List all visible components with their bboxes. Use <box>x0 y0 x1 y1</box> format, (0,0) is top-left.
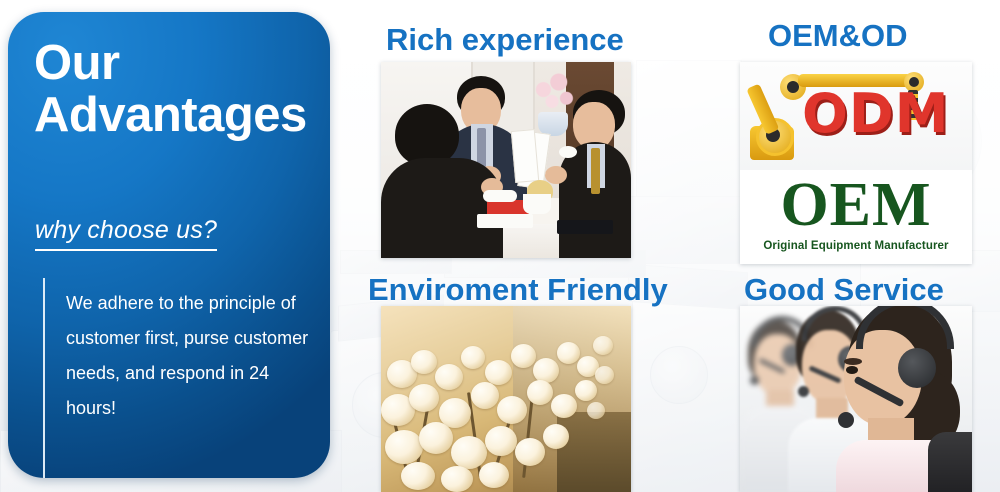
oem-caption: Original Equipment Manufacturer <box>740 240 972 252</box>
cotton-field-photo <box>381 306 631 492</box>
advantages-panel: Our Advantages why choose us? We adhere … <box>8 12 330 478</box>
heading-oem-od: OEM&OD <box>768 18 908 54</box>
oem-text: OEM <box>740 172 972 238</box>
page-title-line1: Our <box>34 36 120 90</box>
panel-vertical-rule <box>43 278 45 478</box>
business-meeting-photo <box>381 62 631 258</box>
heading-good-service: Good Service <box>744 272 944 308</box>
heading-enviroment-friendly: Enviroment Friendly <box>368 272 668 308</box>
odm-text: ODM <box>802 82 949 145</box>
page-title-line2: Advantages <box>34 90 314 142</box>
panel-subtitle: why choose us? <box>35 216 217 251</box>
heading-rich-experience: Rich experience <box>386 22 624 58</box>
panel-body-text: We adhere to the principle of customer f… <box>66 286 318 426</box>
page-title: Our Advantages <box>34 38 314 142</box>
oem-odm-graphic: ODM OEM Original Equipment Manufacturer <box>740 62 972 264</box>
advantages-banner: Our Advantages why choose us? We adhere … <box>0 0 1000 492</box>
call-center-photo <box>740 306 972 492</box>
odm-label: ODM <box>802 82 949 145</box>
